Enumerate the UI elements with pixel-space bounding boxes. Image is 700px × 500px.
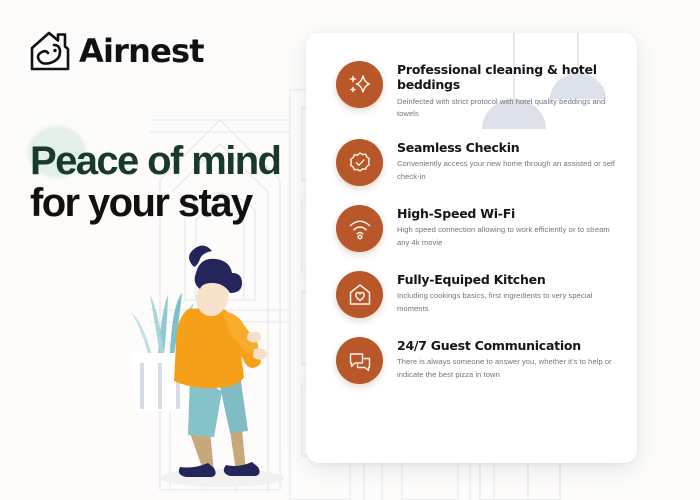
list-item[interactable]: 24/7 Guest Communication There is always… (306, 335, 637, 384)
list-item[interactable]: Seamless Checkin Conveniently access you… (306, 137, 637, 186)
features-card: Professional cleaning & hotel beddings D… (306, 33, 637, 463)
feature-text: Fully-Equiped Kitchen Including cookings… (397, 269, 619, 315)
feature-text: Seamless Checkin Conveniently access you… (397, 137, 619, 183)
feature-description: High speed connection allowing to work e… (397, 224, 619, 249)
headline-line-1: Peace of mind (30, 140, 280, 182)
sparkle-icon (336, 61, 383, 108)
feature-text: 24/7 Guest Communication There is always… (397, 335, 619, 381)
feature-title: Professional cleaning & hotel beddings (397, 62, 619, 93)
brand-logo: Airnest (28, 28, 204, 74)
house-bird-logo-icon (28, 28, 72, 74)
feature-description: Conveniently access your new home throug… (397, 158, 619, 183)
page-title: Peace of mind for your stay (30, 140, 280, 225)
check-badge-icon (336, 139, 383, 186)
feature-text: High-Speed Wi-Fi High speed connection a… (397, 203, 619, 249)
feature-title: Seamless Checkin (397, 140, 619, 155)
feature-text: Professional cleaning & hotel beddings D… (397, 59, 619, 120)
feature-title: Fully-Equiped Kitchen (397, 272, 619, 287)
feature-title: High-Speed Wi-Fi (397, 206, 619, 221)
home-heart-icon (336, 271, 383, 318)
wifi-icon (336, 205, 383, 252)
feature-title: 24/7 Guest Communication (397, 338, 619, 353)
chat-bubbles-icon (336, 337, 383, 384)
list-item[interactable]: High-Speed Wi-Fi High speed connection a… (306, 203, 637, 252)
feature-list: Professional cleaning & hotel beddings D… (306, 33, 637, 384)
feature-description: There is always someone to answer you, w… (397, 356, 619, 381)
list-item[interactable]: Fully-Equiped Kitchen Including cookings… (306, 269, 637, 318)
headline-line-2: for your stay (30, 182, 280, 224)
walking-person-illustration (118, 235, 318, 493)
person-figure (174, 245, 267, 477)
feature-description: Including cookings basics, first ingredi… (397, 290, 619, 315)
brand-name: Airnest (79, 35, 204, 67)
list-item[interactable]: Professional cleaning & hotel beddings D… (306, 59, 637, 120)
poster-canvas: Airnest Peace of mind for your stay (0, 0, 700, 500)
feature-description: Deinfected with strict protocol with hot… (397, 96, 619, 121)
